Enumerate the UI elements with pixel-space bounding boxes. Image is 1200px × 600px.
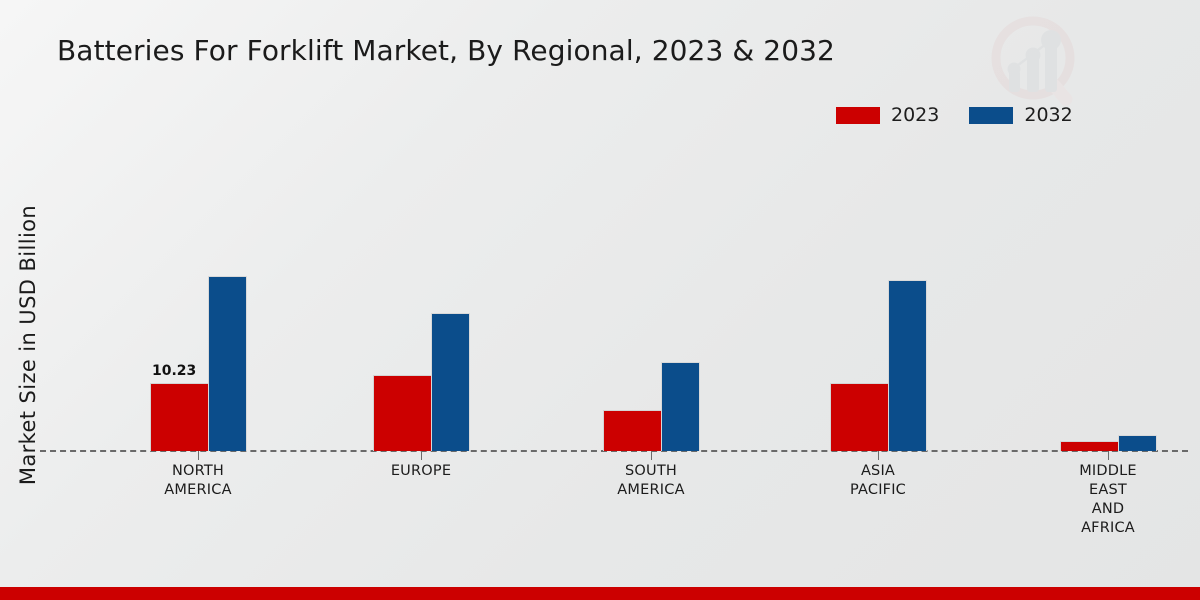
bar-2023-south-america	[603, 410, 663, 451]
x-axis-category-label: NORTHAMERICA	[128, 462, 268, 500]
footer-accent-bar	[0, 587, 1200, 600]
bar-2032-middle-east-and-africa	[1118, 435, 1157, 451]
x-axis-tick	[421, 451, 422, 460]
bar-2023-europe	[373, 375, 433, 451]
bar-value-label: 10.23	[152, 363, 196, 379]
x-axis-tick	[198, 451, 199, 460]
x-axis-tick	[1108, 451, 1109, 460]
bar-2032-europe	[431, 313, 470, 451]
bar-2032-asia-pacific	[888, 280, 927, 451]
bar-2023-middle-east-and-africa	[1060, 441, 1120, 451]
x-axis-category-label: ASIAPACIFIC	[808, 462, 948, 500]
bar-2023-asia-pacific	[830, 383, 890, 451]
x-axis-category-label: EUROPE	[351, 462, 491, 481]
y-axis-label: Market Size in USD Billion	[16, 165, 40, 525]
x-axis-category-label: SOUTHAMERICA	[581, 462, 721, 500]
bar-2032-south-america	[661, 362, 700, 451]
chart-canvas: Batteries For Forklift Market, By Region…	[0, 0, 1200, 600]
x-axis-tick	[878, 451, 879, 460]
x-axis-category-label: MIDDLEEASTANDAFRICA	[1038, 462, 1178, 538]
plot-area: 10.23 NORTHAMERICAEUROPESOUTHAMERICAASIA…	[40, 0, 1188, 600]
bar-2032-north-america	[208, 276, 247, 451]
bar-2023-north-america	[150, 383, 210, 451]
x-axis-tick	[651, 451, 652, 460]
